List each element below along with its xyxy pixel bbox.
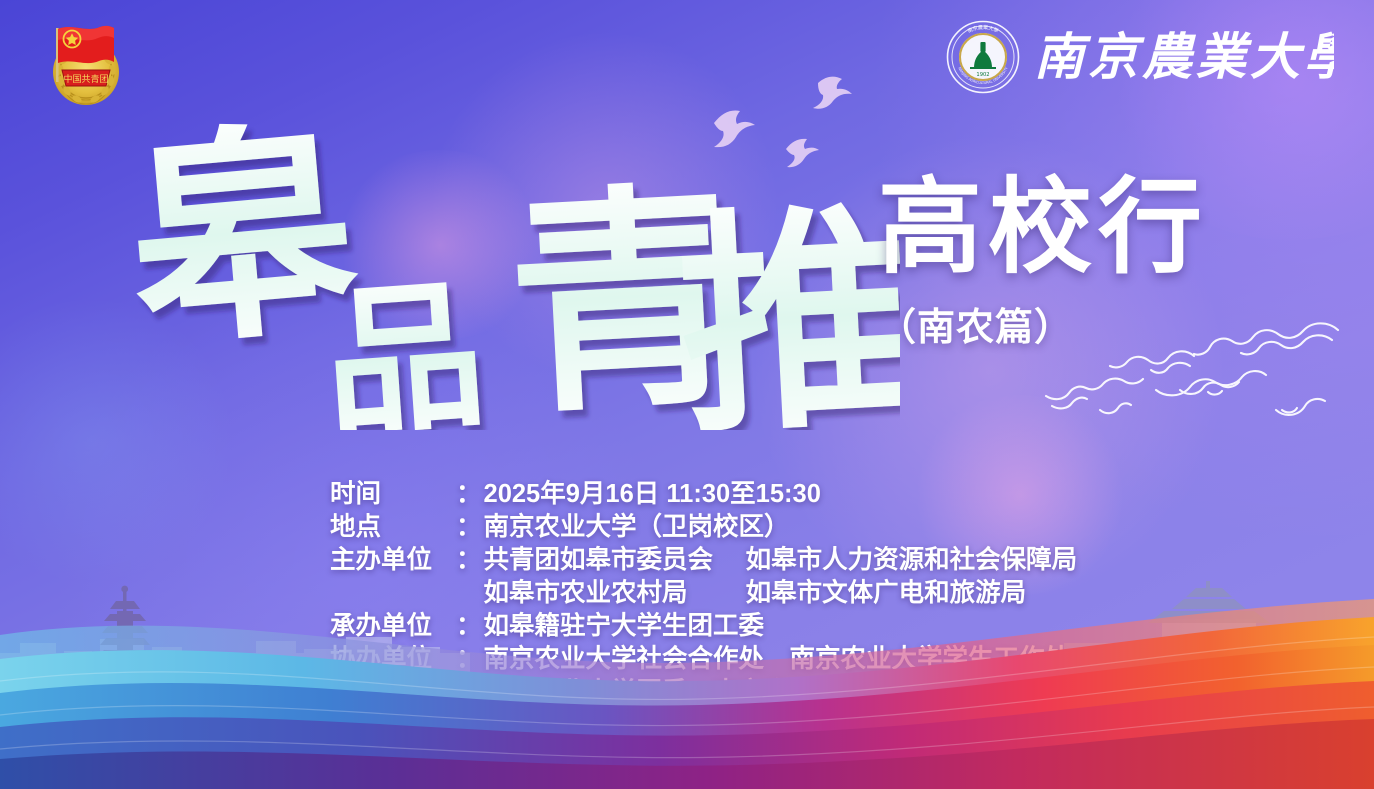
svg-text:品: 品 bbox=[318, 260, 491, 430]
info-value: 2025年9月16日 11:30至15:30 bbox=[484, 478, 821, 511]
info-colon: ： bbox=[456, 511, 482, 544]
info-label: 地点 bbox=[330, 511, 456, 544]
event-poster: 中国共青团 1902 南京農業大學 NANJING bbox=[0, 0, 1374, 789]
info-colon: ： bbox=[456, 478, 482, 511]
chinese-cloud-pattern-icon bbox=[1040, 318, 1340, 426]
svg-text:推: 推 bbox=[673, 179, 900, 430]
svg-text:南京農業大學: 南京農業大學 bbox=[1034, 27, 1334, 86]
njau-wordmark: 南京農業大學 bbox=[1034, 24, 1334, 90]
njau-logo: 1902 南京農業大學 NANJING AGRICULTURAL UNIVERS… bbox=[946, 18, 1334, 96]
bottom-scenery bbox=[0, 559, 1374, 789]
info-row-place: 地点 ： 南京农业大学（卫岗校区） bbox=[330, 511, 1090, 544]
njau-university-seal-icon: 1902 南京農業大學 NANJING AGRICULTURAL UNIVERS… bbox=[946, 20, 1020, 94]
info-label: 时间 bbox=[330, 478, 456, 511]
info-value: 南京农业大学（卫岗校区） bbox=[484, 511, 790, 544]
page-title-calligraphy: 皋 品 青 推 bbox=[110, 85, 900, 430]
info-row-time: 时间 ： 2025年9月16日 11:30至15:30 bbox=[330, 478, 1090, 511]
decorative-waves bbox=[0, 589, 1374, 789]
svg-text:1902: 1902 bbox=[976, 72, 989, 78]
svg-text:中国共青团: 中国共青团 bbox=[63, 73, 108, 85]
title-heading: 高校行 bbox=[878, 176, 1258, 280]
